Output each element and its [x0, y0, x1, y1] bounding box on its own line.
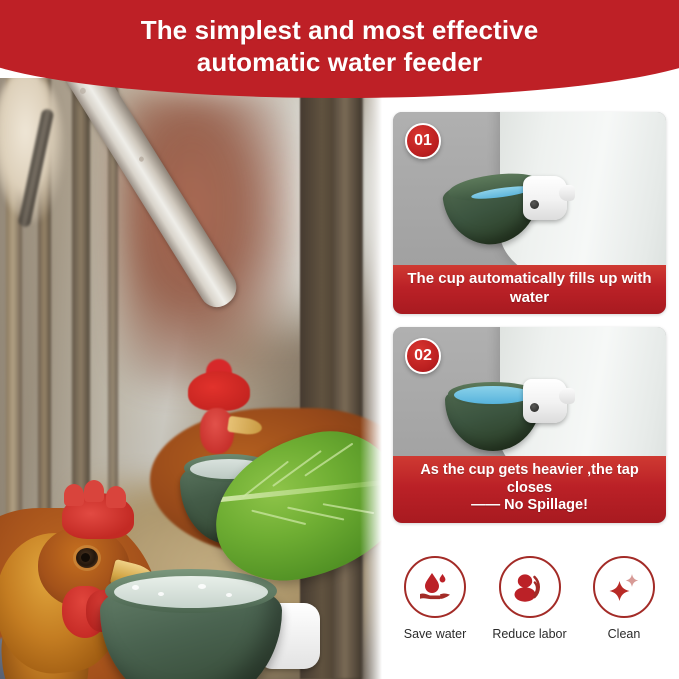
step-badge-02: 02: [405, 338, 441, 374]
feature-label: Reduce labor: [492, 627, 566, 641]
photo-background-wall: [120, 88, 300, 388]
step-cup-figure: [445, 170, 565, 248]
feature-save-water: Save water: [393, 556, 477, 641]
foreground-hen-comb: [62, 493, 134, 539]
tap-screw: [530, 200, 539, 209]
hen-pupil: [81, 553, 90, 562]
background-hen-comb: [188, 371, 250, 411]
tap-valve: [523, 176, 567, 220]
feature-icon-ring: [404, 556, 466, 618]
step-caption-02-line1: As the cup gets heavier ,the tap closes: [399, 462, 660, 497]
photo-edge-fade: [360, 78, 382, 679]
water-bubble: [226, 593, 232, 597]
water-bubble: [158, 592, 164, 596]
product-photo: [0, 78, 382, 679]
cup-water: [454, 386, 532, 404]
page-title-line1: The simplest and most effective: [141, 15, 539, 45]
comb-peak: [64, 484, 84, 506]
feature-label: Clean: [608, 627, 641, 641]
infographic-root: The simplest and most effective automati…: [0, 0, 679, 679]
feature-clean: Clean: [582, 556, 666, 641]
leaf-vein: [304, 443, 353, 477]
tap-screw: [530, 403, 539, 412]
branch-speckle: [138, 156, 145, 163]
feature-label: Save water: [404, 627, 467, 641]
water-bubble: [132, 585, 139, 590]
comb-peak: [84, 480, 104, 502]
feature-icon-ring: [499, 556, 561, 618]
page-title: The simplest and most effective automati…: [0, 14, 679, 78]
feature-reduce-labor: Reduce labor: [488, 556, 572, 641]
step-badge-01: 01: [405, 123, 441, 159]
leaf-vein: [251, 510, 306, 525]
tap-valve: [523, 379, 567, 423]
step-caption-02-line2: —— No Spillage!: [399, 497, 660, 515]
leaf-midrib: [218, 479, 382, 502]
water-cup-main: [100, 561, 282, 679]
coop-slat: [333, 78, 363, 679]
feature-icon-ring: [593, 556, 655, 618]
sparkle-star-icon: [604, 567, 644, 607]
feature-list: Save water Reduce labor Clean: [393, 556, 666, 656]
leaf-vein: [287, 507, 344, 521]
step-caption-02: As the cup gets heavier ,the tap closes …: [393, 456, 666, 523]
tap-nozzle: [559, 185, 575, 201]
foreground-hen-eye: [76, 548, 98, 568]
water-bubble: [198, 584, 206, 589]
step-panel-01: 01 The cup automatically fills up with w…: [393, 112, 666, 314]
cup-water: [114, 576, 268, 608]
comb-peak: [106, 486, 126, 508]
tap-nozzle: [559, 388, 575, 404]
step-cup-figure: [445, 379, 565, 457]
page-title-line2: automatic water feeder: [0, 46, 679, 78]
step-caption-01: The cup automatically fills up with wate…: [393, 265, 666, 314]
step-panel-02: 02 As the cup gets heavier ,the tap clos…: [393, 327, 666, 523]
water-drop-in-hand-icon: [415, 567, 455, 607]
person-with-arc-icon: [510, 567, 550, 607]
